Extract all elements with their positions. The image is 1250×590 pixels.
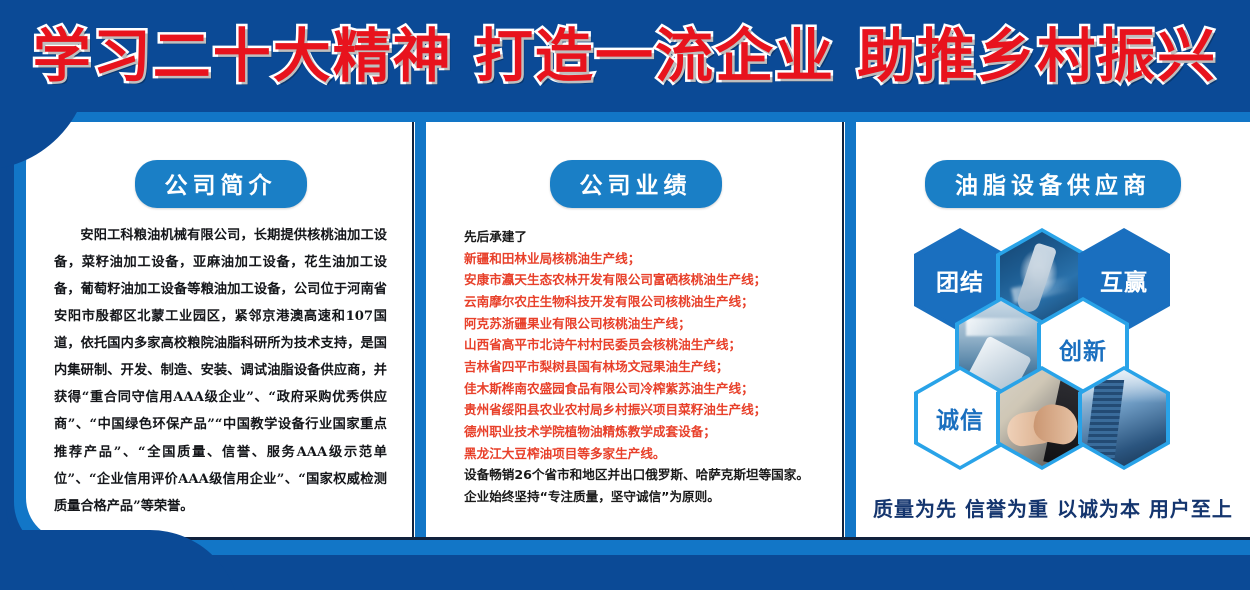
panel-heading-supplier: 油脂设备供应商: [925, 160, 1181, 208]
panel-supplier-values: 油脂设备供应商 团结 互赢: [856, 122, 1250, 540]
list-item: 德州职业技术学院植物油精炼教学成套设备；: [464, 421, 845, 443]
page-title: 学习二十大精神 打造一流企业 助推乡村振兴: [33, 27, 1217, 85]
list-item: 佳木斯桦南农盛园食品有限公司冷榨紫苏油生产线；: [464, 378, 845, 400]
panel-divider-2: [845, 122, 856, 540]
hexagon-cluster: 团结 互赢 创新: [856, 220, 1250, 475]
hex-label: 诚信: [936, 401, 984, 435]
supplier-tagline: 质量为先 信誉为重 以诚为本 用户至上: [856, 493, 1250, 522]
handshake-icon: [1000, 370, 1084, 466]
list-item: 安康市瀛天生态农林开发有限公司富硒核桃油生产线；: [464, 269, 845, 291]
list-item: 贵州省绥阳县农业农村局乡村振兴项目菜籽油生产线；: [464, 399, 845, 421]
header-banner: 学习二十大精神 打造一流企业 助推乡村振兴: [0, 0, 1250, 112]
achievements-list-container: 先后承建了 新疆和田林业局核桃油生产线； 安康市瀛天生态农林开发有限公司富硒核桃…: [464, 226, 845, 508]
card-bottom-hairline: [26, 537, 1250, 540]
list-item: 云南摩尔农庄生物科技开发有限公司核桃油生产线；: [464, 291, 845, 313]
panel-company-profile: 公司简介 安阳工科粮油机械有限公司，长期提供核桃油加工设备，菜籽油加工设备，亚麻…: [26, 122, 415, 540]
panel-divider-1: [415, 122, 426, 540]
achievements-intro: 先后承建了: [464, 226, 845, 248]
hex-label: 团结: [936, 263, 984, 297]
panel-company-achievements: 公司业绩 先后承建了 新疆和田林业局核桃油生产线； 安康市瀛天生态农林开发有限公…: [426, 122, 845, 540]
achievements-outro-line: 设备畅销26个省市和地区并出口俄罗斯、哈萨克斯坦等国家。: [464, 464, 845, 486]
panel-heading-company-profile: 公司简介: [135, 160, 307, 208]
hex-label: 互赢: [1100, 263, 1148, 297]
city-skyline-icon: [1082, 370, 1166, 466]
panel-heading-company-achievements: 公司业绩: [550, 160, 722, 208]
list-item: 山西省高平市北诗午村村民委员会核桃油生产线；: [464, 334, 845, 356]
list-item: 新疆和田林业局核桃油生产线；: [464, 248, 845, 270]
content-card: 公司简介 安阳工科粮油机械有限公司，长期提供核桃油加工设备，菜籽油加工设备，亚麻…: [26, 122, 1250, 540]
achievements-outro-line: 企业始终坚持“专注质量，坚守诚信”为原则。: [464, 486, 845, 508]
list-item: 阿克苏浙疆果业有限公司核桃油生产线；: [464, 313, 845, 335]
company-profile-text: 安阳工科粮油机械有限公司，长期提供核桃油加工设备，菜籽油加工设备，亚麻油加工设备…: [54, 222, 387, 520]
poster-root: 学习二十大精神 打造一流企业 助推乡村振兴 公司简介 安阳工科粮油机械有限公司，…: [0, 0, 1250, 590]
list-item: 吉林省四平市梨树县国有林场文冠果油生产线；: [464, 356, 845, 378]
list-item: 黑龙江大豆榨油项目等多家生产线。: [464, 443, 845, 465]
hex-label: 创新: [1059, 332, 1107, 366]
